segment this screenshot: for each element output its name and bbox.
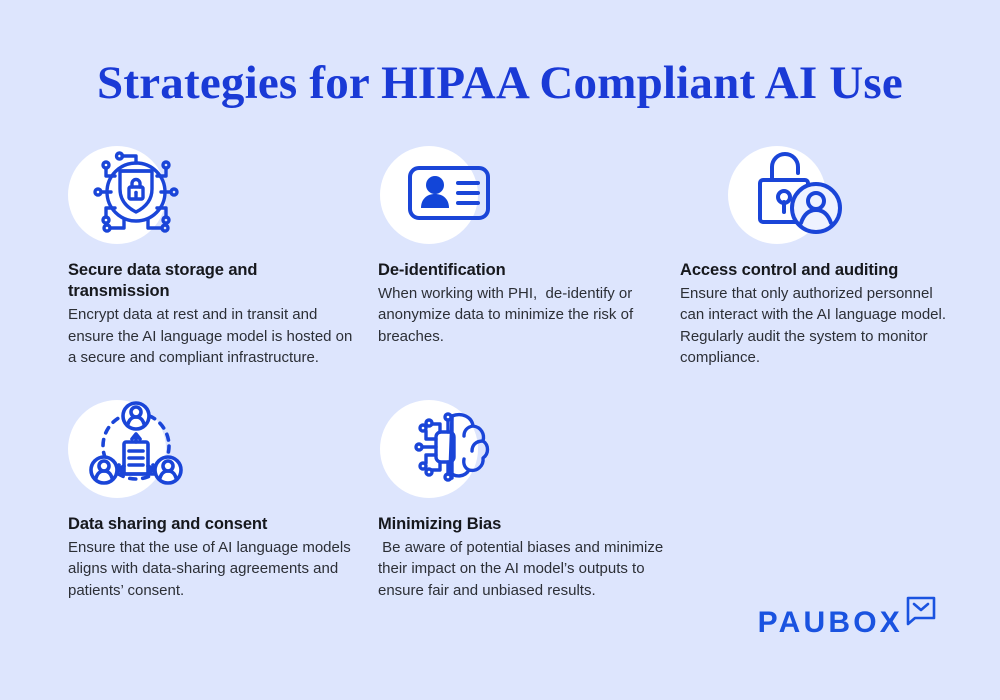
users-network-document-icon bbox=[68, 394, 188, 504]
card-body: Ensure that only authorized personnel ca… bbox=[680, 283, 948, 368]
strategy-card-grid: Secure data storage and transmission Enc… bbox=[60, 140, 960, 640]
strategy-card: Minimizing Bias Be aware of potential bi… bbox=[370, 390, 680, 640]
card-heading: Access control and auditing bbox=[680, 260, 948, 281]
card-body: Encrypt data at rest and in transit and … bbox=[68, 304, 358, 368]
open-padlock-user-icon bbox=[728, 140, 848, 250]
paubox-logo: PAUBOX bbox=[758, 594, 938, 638]
id-card-icon bbox=[380, 140, 500, 250]
strategy-card: Data sharing and consent Ensure that the… bbox=[60, 390, 370, 640]
envelope-chat-icon bbox=[904, 594, 938, 628]
shield-lock-circuit-icon bbox=[68, 140, 188, 250]
strategy-card: Access control and auditing Ensure that … bbox=[680, 140, 960, 390]
card-heading: Minimizing Bias bbox=[378, 514, 668, 535]
ai-brain-circuit-icon bbox=[380, 394, 500, 504]
card-heading: Data sharing and consent bbox=[68, 514, 358, 535]
card-heading: Secure data storage and transmission bbox=[68, 260, 358, 302]
card-body: Be aware of potential biases and minimiz… bbox=[378, 537, 668, 601]
card-heading: De-identification bbox=[378, 260, 668, 281]
page-title: Strategies for HIPAA Compliant AI Use bbox=[0, 56, 1000, 110]
strategy-card: De-identification When working with PHI,… bbox=[370, 140, 680, 390]
strategy-card: Secure data storage and transmission Enc… bbox=[60, 140, 370, 390]
infographic-canvas: Strategies for HIPAA Compliant AI Use bbox=[0, 0, 1000, 700]
card-body: When working with PHI, de-identify or an… bbox=[378, 283, 668, 347]
paubox-wordmark: PAUBOX bbox=[758, 594, 903, 638]
card-body: Ensure that the use of AI language model… bbox=[68, 537, 358, 601]
